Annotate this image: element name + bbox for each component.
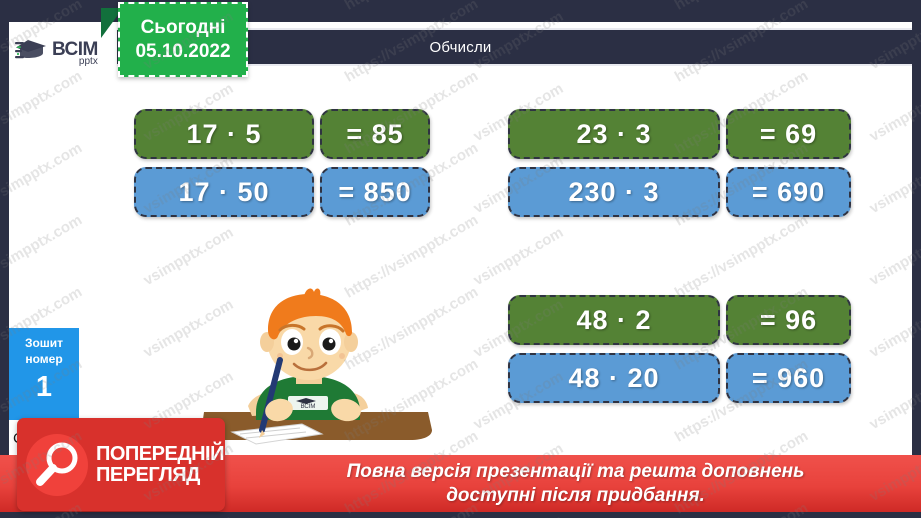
equation-result: = 850: [320, 167, 430, 217]
slide-canvas: Обчисли ВСІМ pptx: [0, 0, 921, 518]
equation-result: = 69: [726, 109, 851, 159]
equation-result: = 690: [726, 167, 851, 217]
equation-result: = 960: [726, 353, 851, 403]
equation-expression: 17 · 50: [134, 167, 314, 217]
notebook-label-line1: Зошит: [25, 335, 63, 351]
equation-row: 17 · 50 = 850: [134, 167, 430, 217]
equation-row: 48 · 2 = 96: [508, 295, 851, 345]
frame-left-border: [0, 0, 9, 518]
watermark-text: https://vsimpptx.com: [0, 139, 85, 229]
equation-expression: 23 · 3: [508, 109, 720, 159]
equation-group-right-top: 23 · 3 = 69 230 · 3 = 690: [508, 109, 851, 225]
preview-watermark-card: ПОПЕРЕДНІЙ ПЕРЕГЛЯД: [17, 418, 225, 511]
magnifier-icon: [26, 434, 88, 496]
equation-row: 230 · 3 = 690: [508, 167, 851, 217]
watermark-text: https://vsimpptx.com: [0, 67, 85, 157]
equation-group-right-bottom: 48 · 2 = 96 48 · 20 = 960: [508, 295, 851, 411]
date-label: Сьогодні: [141, 16, 226, 40]
notebook-number: 1: [36, 373, 52, 402]
equation-row: 23 · 3 = 69: [508, 109, 851, 159]
equation-result: = 85: [320, 109, 430, 159]
date-value: 05.10.2022: [135, 40, 230, 64]
watermark-text: vsimpptx.com: [141, 224, 237, 289]
equation-expression: 48 · 20: [508, 353, 720, 403]
svg-text:ВСІМ: ВСІМ: [301, 404, 316, 410]
preview-line1: ПОПЕРЕДНІЙ: [96, 443, 224, 465]
preview-line2: ПЕРЕГЛЯД: [96, 464, 200, 486]
watermark-text: vsimpptx.com: [471, 224, 567, 289]
watermark-text: https://vsimpptx.com: [0, 211, 85, 301]
equation-expression: 230 · 3: [508, 167, 720, 217]
graduation-cap-icon: [15, 37, 49, 70]
equation-group-left-top: 17 · 5 = 85 17 · 50 = 850: [134, 109, 430, 225]
frame-bottom-border: [0, 512, 921, 518]
date-badge: Сьогодні 05.10.2022: [118, 2, 248, 77]
equation-result: = 96: [726, 295, 851, 345]
equation-expression: 48 · 2: [508, 295, 720, 345]
preview-card-text: ПОПЕРЕДНІЙ ПЕРЕГЛЯД: [96, 444, 224, 486]
page-title: Обчисли: [430, 39, 492, 56]
frame-right-border: [912, 0, 921, 518]
notebook-label-line2: номер: [25, 351, 62, 367]
banner-text: Повна версія презентації та решта доповн…: [347, 460, 805, 508]
equation-row: 17 · 5 = 85: [134, 109, 430, 159]
banner-line1: Повна версія презентації та решта доповн…: [347, 461, 805, 482]
equation-row: 48 · 20 = 960: [508, 353, 851, 403]
logo-text-block: ВСІМ pptx: [52, 40, 98, 67]
notebook-number-badge: Зошит номер 1: [9, 328, 79, 420]
banner-line2: доступні після придбання.: [446, 485, 705, 506]
equation-expression: 17 · 5: [134, 109, 314, 159]
boy-writing-illustration: ВСІМ: [196, 284, 436, 460]
